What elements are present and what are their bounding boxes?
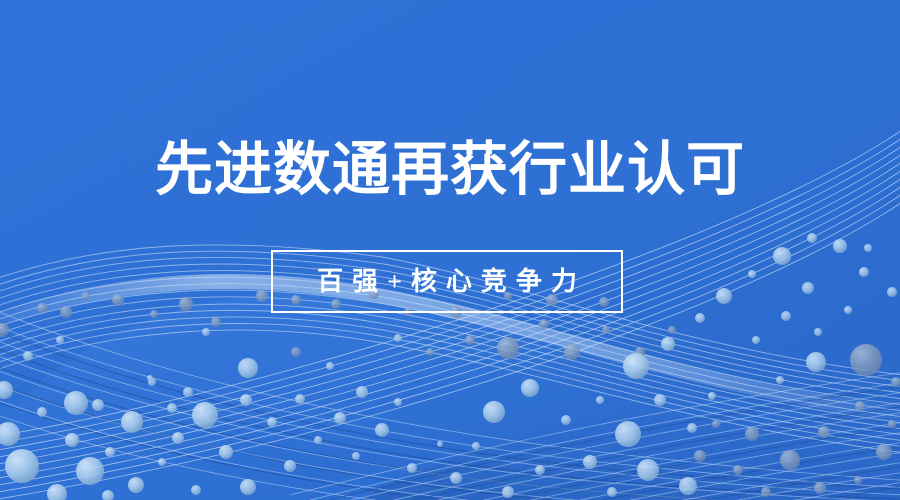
subtitle-badge: 百强+核心竞争力 xyxy=(271,250,623,313)
page-title: 先进数通再获行业认可 xyxy=(0,138,900,202)
banner-content: 先进数通再获行业认可 百强+核心竞争力 xyxy=(0,0,900,500)
subtitle-badge-label: 百强+核心竞争力 xyxy=(308,267,586,297)
promo-banner: 先进数通再获行业认可 百强+核心竞争力 xyxy=(0,0,900,500)
